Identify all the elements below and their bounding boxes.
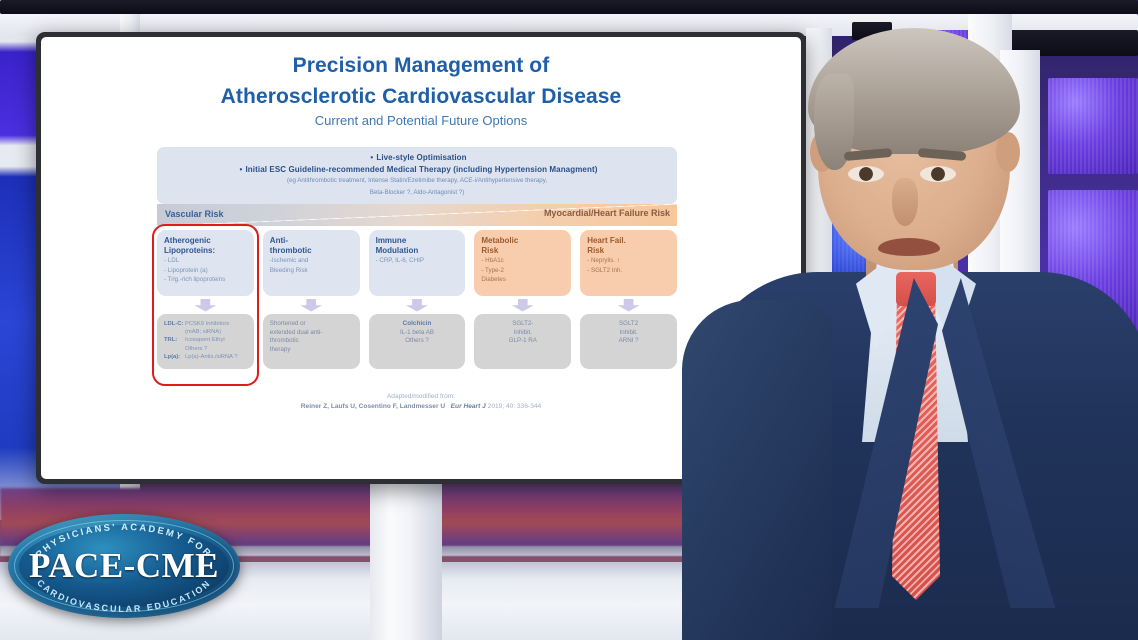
col1-row-2-key <box>164 328 185 336</box>
col4-line-2: Inhibit. <box>479 329 566 338</box>
col4-line-3: GLP-1 RA <box>479 337 566 346</box>
therapy-note-1: (eg Antithrombotic treatment, Intense St… <box>165 177 669 186</box>
col5-line-1: SGLT2 <box>585 320 672 329</box>
risk-label-vascular: Vascular Risk <box>165 209 224 219</box>
col1-item-2: - Lipoprotein (a) <box>164 267 249 276</box>
col1-row-5-key: Lp(a): <box>164 353 185 361</box>
col2-line-1: Shortened or <box>270 320 355 329</box>
col2-arrow <box>263 296 360 314</box>
therapy-line-1-wrap: •Live-style Optimisation <box>165 153 669 162</box>
col1-head-1: Atherogenic <box>164 236 249 246</box>
col2-bottom-box: Shortened or extended dual anti- thrombo… <box>263 314 360 369</box>
bullet-icon: • <box>367 153 376 162</box>
therapy-line-2-wrap: •Initial ESC Guideline-recommended Medic… <box>165 165 669 174</box>
therapy-line-2: Initial ESC Guideline-recommended Medica… <box>245 165 597 174</box>
mouth <box>878 238 940 256</box>
col2-head-2: thrombotic <box>270 246 355 256</box>
col5-item-1: - Neprylis. ↑ <box>587 257 672 266</box>
col5-line-2: Inhibit. <box>585 329 672 338</box>
col1-arrow <box>157 296 254 314</box>
col1-top-box: Atherogenic Lipoproteins: - LDL - Lipopr… <box>157 230 254 296</box>
col1-row-1-key: LDL-C: <box>164 320 185 328</box>
col2-top-box: Anti- thrombotic -Ischemic and Bleeding … <box>263 230 360 296</box>
column-heart-failure-risk: Heart Fail. Risk - Neprylis. ↑ - SGLT2 I… <box>580 230 677 380</box>
col2-head-1: Anti- <box>270 236 355 246</box>
col2-line-4: therapy <box>270 346 355 355</box>
column-anti-thrombotic: Anti- thrombotic -Ischemic and Bleeding … <box>263 230 360 380</box>
col1-head-2: Lipoproteins: <box>164 246 249 256</box>
col1-row-3: TRL:Icosapent Ethyl <box>164 336 249 344</box>
col4-line-1: SGLT2- <box>479 320 566 329</box>
col5-top-box: Heart Fail. Risk - Neprylis. ↑ - SGLT2 I… <box>580 230 677 296</box>
col4-head-1: Metabolic <box>481 236 566 246</box>
down-arrow-icon <box>194 299 216 312</box>
col4-bottom-box: SGLT2- Inhibit. GLP-1 RA <box>474 314 571 369</box>
studio-scene: Precision Management of Atherosclerotic … <box>0 0 1138 640</box>
eye-left <box>848 166 884 182</box>
down-arrow-icon <box>406 299 428 312</box>
down-arrow-icon <box>618 299 640 312</box>
col3-title: Colchicin <box>374 320 461 329</box>
col1-bottom-box: LDL-C:PCSK9 Inhibitors (mAB; siRNA) TRL:… <box>157 314 254 369</box>
col3-line-1: IL-1 beta AB <box>374 329 461 338</box>
down-arrow-icon <box>300 299 322 312</box>
col1-row-3-key: TRL: <box>164 336 185 344</box>
pathway-columns: Atherogenic Lipoproteins: - LDL - Lipopr… <box>157 230 677 380</box>
col1-item-1: - LDL <box>164 257 249 266</box>
presenter <box>678 0 1138 640</box>
col5-item-2: - SGLT2 Inh. <box>587 267 672 276</box>
col1-row-2: (mAB; siRNA) <box>164 328 249 336</box>
col5-head-2: Risk <box>587 246 672 256</box>
col3-line-2: Others ? <box>374 337 461 346</box>
col2-item-1: -Ischemic and <box>270 257 355 266</box>
col5-line-3: ARNI ? <box>585 337 672 346</box>
col4-arrow <box>474 296 571 314</box>
eye-right <box>920 166 956 182</box>
citation-authors: Reiner Z, Laufs U, Cosentino F, Landmess… <box>301 403 445 410</box>
col5-arrow <box>580 296 677 314</box>
shoulder-left <box>682 300 832 640</box>
col2-line-2: extended dual anti- <box>270 329 355 338</box>
col1-row-2-val: (mAB; siRNA) <box>185 328 221 336</box>
col3-head-2: Modulation <box>376 246 461 256</box>
logo-main-text: PACE-CME <box>8 546 240 586</box>
nose <box>892 178 918 226</box>
col5-bottom-box: SGLT2 Inhibit. ARNI ? <box>580 314 677 369</box>
col3-bottom-box: Colchicin IL-1 beta AB Others ? <box>369 314 466 369</box>
col2-line-3: thrombotic <box>270 337 355 346</box>
col3-head-1: Immune <box>376 236 461 246</box>
hair <box>808 28 1020 154</box>
risk-label-myocardial: Myocardial/Heart Failure Risk <box>544 208 670 218</box>
col1-row-1: LDL-C:PCSK9 Inhibitors <box>164 320 249 328</box>
risk-gradient-bar: Vascular Risk Myocardial/Heart Failure R… <box>157 204 677 226</box>
col4-item-2: - Type-2 <box>481 267 566 276</box>
col4-head-2: Risk <box>481 246 566 256</box>
col1-row-5: Lp(a):Lp(a)-Antis./siRNA ? <box>164 353 249 361</box>
col1-row-5-val: Lp(a)-Antis./siRNA ? <box>185 353 238 361</box>
column-atherogenic-lipoproteins: Atherogenic Lipoproteins: - LDL - Lipopr… <box>157 230 254 380</box>
screen-pedestal <box>370 484 442 640</box>
col1-row-1-val: PCSK9 Inhibitors <box>185 320 229 328</box>
col3-item-1: - CRP, IL-6, CHIP <box>376 257 461 266</box>
pace-cme-logo: PHYSICIANS' ACADEMY FOR CARDIOVASCULAR E… <box>8 514 240 618</box>
col1-item-3: - Trig.-rich lipoproteins <box>164 276 249 285</box>
col1-row-3-val: Icosapent Ethyl <box>185 336 225 344</box>
citation-ref: 2019; 40: 336-344 <box>488 403 542 410</box>
col3-top-box: Immune Modulation - CRP, IL-6, CHIP <box>369 230 466 296</box>
col5-head-1: Heart Fail. <box>587 236 672 246</box>
baseline-therapy-box: •Live-style Optimisation •Initial ESC Gu… <box>157 147 677 204</box>
col1-row-4-key <box>164 345 185 353</box>
col1-row-4: Others ? <box>164 345 249 353</box>
col4-item-3: Diabetes <box>481 276 566 285</box>
therapy-line-1: Live-style Optimisation <box>376 153 466 162</box>
col1-row-4-val: Others ? <box>185 345 207 353</box>
column-metabolic-risk: Metabolic Risk - HbA1c - Type-2 Diabetes… <box>474 230 571 380</box>
col4-item-1: - HbA1c <box>481 257 566 266</box>
column-immune-modulation: Immune Modulation - CRP, IL-6, CHIP Colc… <box>369 230 466 380</box>
citation-journal: Eur Heart J <box>451 403 486 410</box>
col2-item-2: Bleeding Risk <box>270 267 355 276</box>
therapy-note-2: Beta-Blocker ?, Aldo-Antagonist ?) <box>165 189 669 198</box>
col4-top-box: Metabolic Risk - HbA1c - Type-2 Diabetes <box>474 230 571 296</box>
col3-arrow <box>369 296 466 314</box>
down-arrow-icon <box>512 299 534 312</box>
